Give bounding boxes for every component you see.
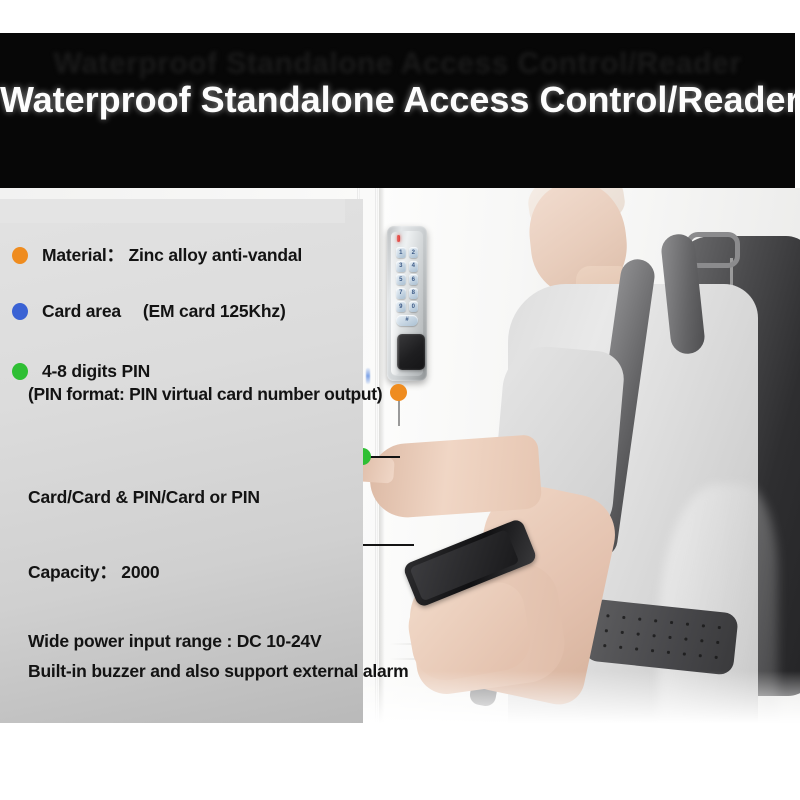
bullet-orange-icon [12,247,28,264]
spec-item-pin: 4-8 digits PIN (PIN format: PIN virtual … [12,359,382,405]
spec-line-capacity: Capacity： 2000 [28,559,159,584]
spec-label-material: Material： Zinc alloy anti-vandal [42,243,302,268]
spec-line-auth-modes: Card/Card & PIN/Card or PIN [28,487,260,508]
spec-sublabel-pin-format: (PIN format: PIN virtual card number out… [28,384,382,405]
spec-label-card-area: Card area (EM card 125Khz) [42,299,286,324]
callout-dot-material [390,384,407,401]
hip-pad-perforations [596,608,726,667]
callout-leader-line-material [398,399,400,426]
spec-list: Material： Zinc alloy anti-vandal Card ar… [0,199,363,723]
product-marketing-image: Waterproof Standalone Access Control/Rea… [0,0,800,800]
key-9[interactable]: 9 [396,301,406,312]
bullet-green-icon [12,363,28,380]
keypad-grid[interactable]: 1 2 3 4 5 6 7 8 9 0 # [396,247,418,326]
arm-reaching-keypad [368,434,543,520]
device-faceplate: 1 2 3 4 5 6 7 8 9 0 # [391,231,423,376]
key-7[interactable]: 7 [396,288,406,299]
key-5[interactable]: 5 [396,274,406,285]
page-title: Waterproof Standalone Access Control/Rea… [0,79,795,121]
spec-item-material: Material： Zinc alloy anti-vandal [12,243,302,268]
header-banner: Waterproof Standalone Access Control/Rea… [0,33,795,188]
header-title-ghost: Waterproof Standalone Access Control/Rea… [0,47,795,81]
key-1[interactable]: 1 [396,247,406,258]
spec-line-buzzer: Built-in buzzer and also support externa… [28,661,409,682]
bullet-blue-icon [12,303,28,320]
callout-leader-line-card-area [368,456,400,458]
key-4[interactable]: 4 [409,261,419,272]
spec-label-pin: 4-8 digits PIN [42,359,382,384]
card-swipe-area[interactable] [397,334,425,370]
key-3[interactable]: 3 [396,261,406,272]
key-8[interactable]: 8 [409,288,419,299]
person-figure [430,188,800,735]
key-6[interactable]: 6 [409,274,419,285]
status-led-indicator [397,235,400,242]
key-function[interactable]: # [396,315,418,326]
key-2[interactable]: 2 [409,247,419,258]
spec-line-power-range: Wide power input range : DC 10-24V [28,631,322,652]
key-0[interactable]: 0 [409,301,419,312]
spec-item-card-area: Card area (EM card 125Khz) [12,299,286,324]
access-control-keypad-reader[interactable]: 1 2 3 4 5 6 7 8 9 0 # [387,226,427,381]
